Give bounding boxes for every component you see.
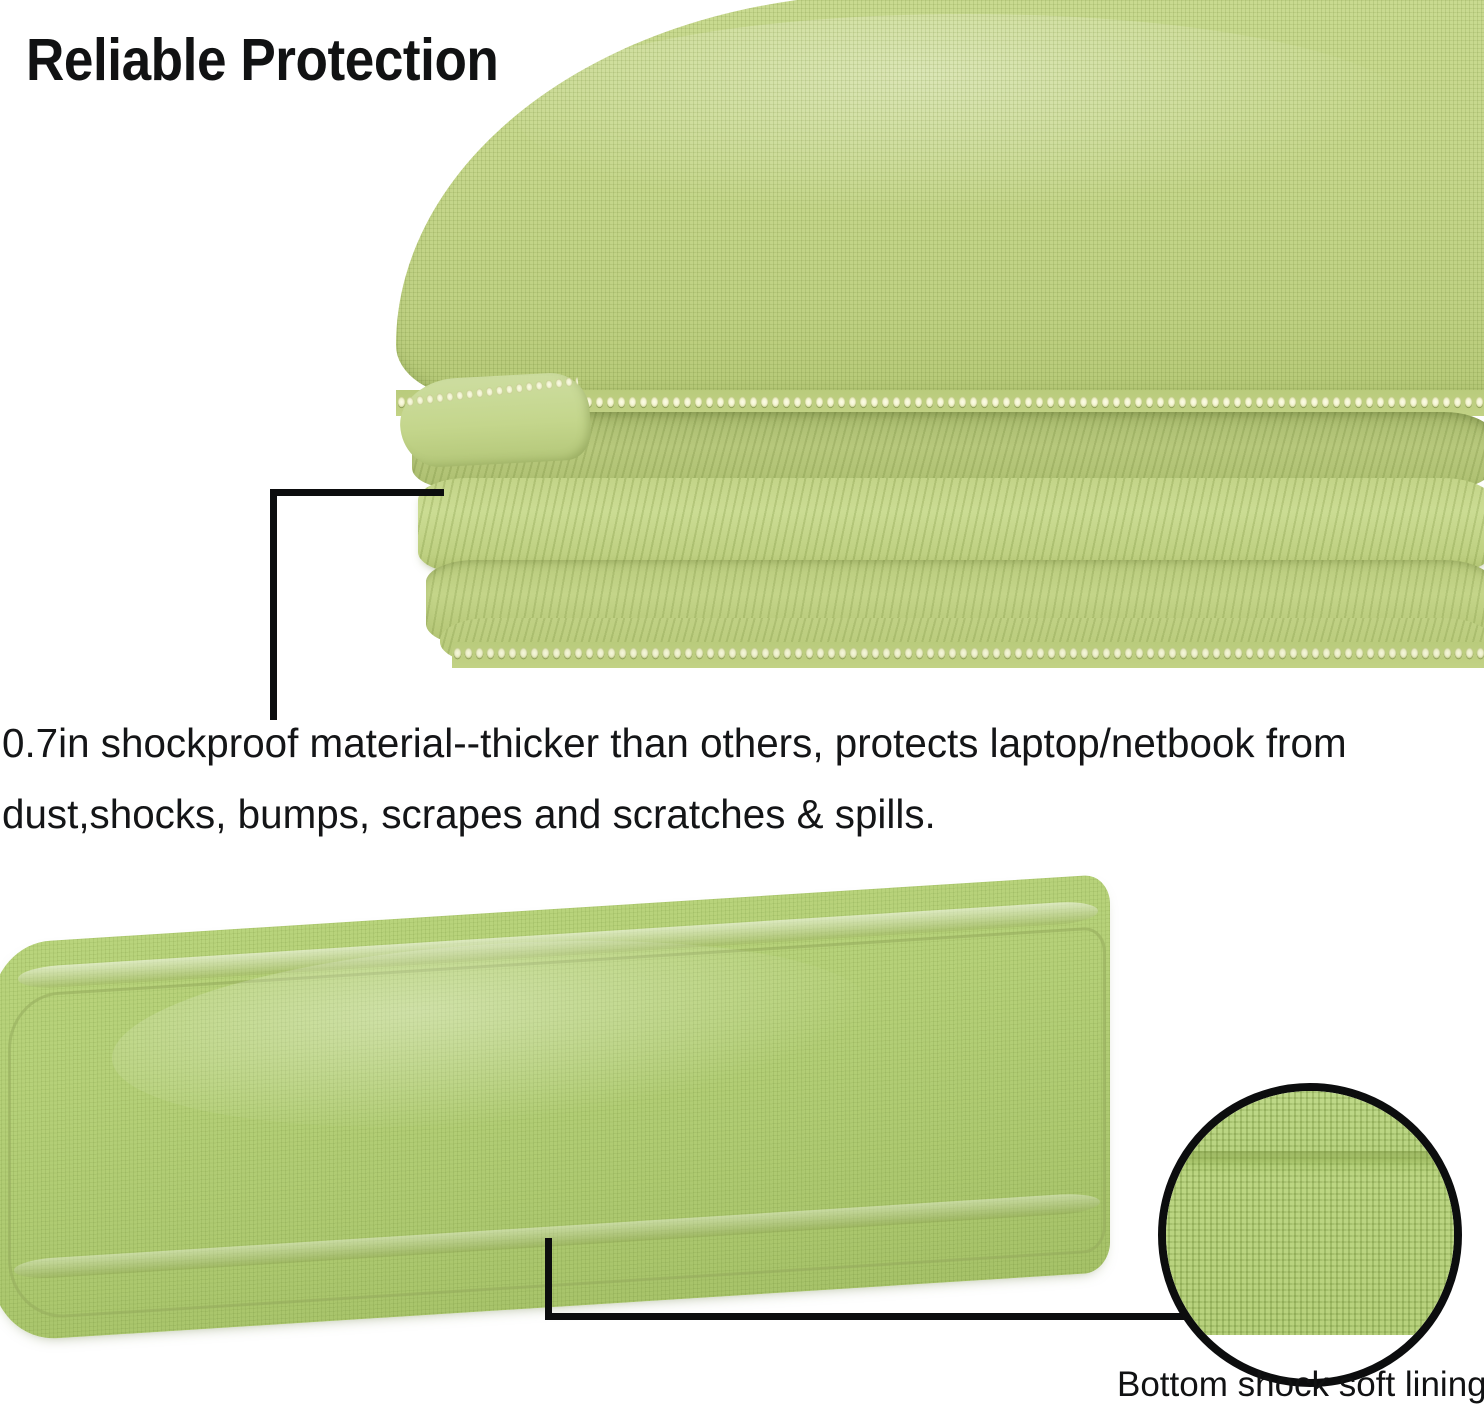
sleeve-canvas-shell	[396, 0, 1484, 398]
canvas-highlight	[516, 14, 1416, 214]
product-photo-sleeve-bottom	[0, 874, 1120, 1294]
description-line-1: 0.7in shockproof material--thicker than …	[2, 708, 1460, 779]
description-line-2: dust,shocks, bumps, scrapes and scratche…	[2, 779, 1460, 850]
lower-zipper-row	[452, 642, 1484, 668]
zipper-teeth-icon	[452, 644, 1484, 661]
page-title: Reliable Protection	[26, 31, 498, 90]
bottom-leader-horizontal	[545, 1313, 1200, 1320]
top-leader-vertical	[270, 489, 277, 720]
top-leader-horizontal	[270, 489, 444, 496]
magnified-lining-fabric	[1158, 1085, 1462, 1335]
bottom-leader-vertical	[545, 1238, 552, 1320]
soft-lining-magnifier-inset	[1158, 1083, 1462, 1387]
zipper-end-flap	[398, 371, 592, 469]
magnifier-caption: Bottom shock soft lining	[1117, 1366, 1484, 1405]
magnified-lining-seam	[1158, 1151, 1462, 1163]
infographic-canvas: Reliable Protection 0.7in shockproof mat…	[0, 0, 1484, 1425]
description-text: 0.7in shockproof material--thicker than …	[2, 708, 1460, 850]
product-photo-sleeve-zipper	[396, 0, 1484, 684]
